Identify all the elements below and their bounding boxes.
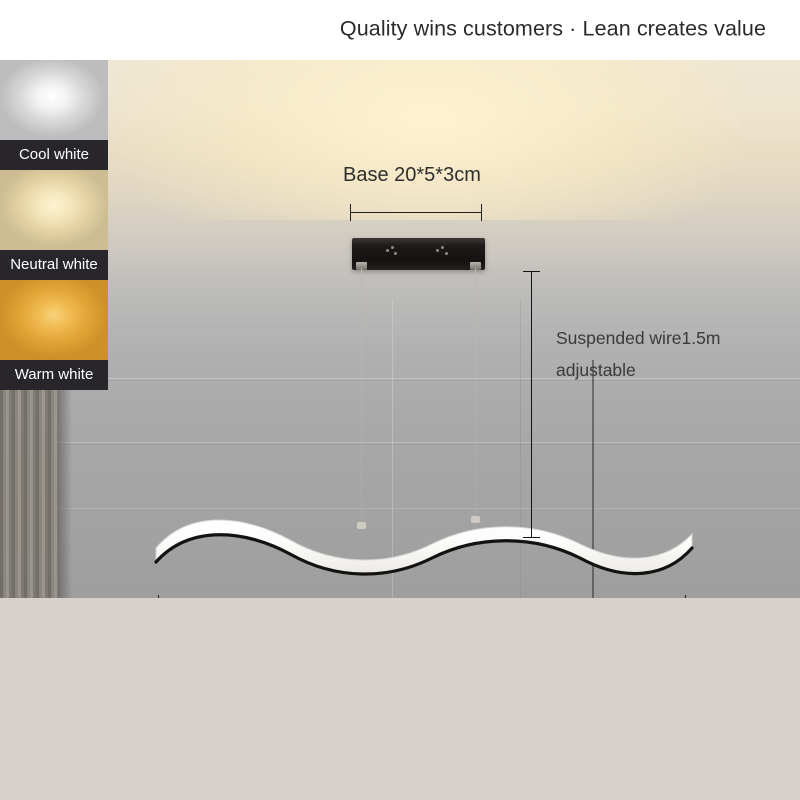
swatch-preview-cool-white bbox=[0, 60, 108, 140]
wall-seam bbox=[0, 378, 800, 379]
specification-panel: Black - 120cm Color: Black Material: Acr… bbox=[0, 598, 800, 800]
canopy-screw-icon bbox=[386, 249, 389, 252]
swatch-label-neutral-white: Neutral white bbox=[0, 250, 108, 280]
header-tagline: Quality wins customers · Lean creates va… bbox=[340, 17, 766, 42]
color-temperature-swatches: Cool white Neutral white Warm white bbox=[0, 60, 108, 390]
swatch-label-warm-white: Warm white bbox=[0, 360, 108, 390]
base-dimension-label: Base 20*5*3cm bbox=[343, 164, 481, 187]
curtain-shadow bbox=[58, 375, 72, 598]
lamp-canopy-base bbox=[352, 238, 485, 270]
suspension-wire bbox=[361, 268, 362, 526]
suspension-label-line1: Suspended wire1.5m bbox=[556, 328, 720, 349]
canopy-screw-icon bbox=[441, 246, 444, 249]
header-bar: Quality wins customers · Lean creates va… bbox=[0, 0, 800, 60]
suspension-wire bbox=[475, 268, 476, 520]
product-photo: Base 20*5*3cm Suspended wire1.5m adjusta… bbox=[0, 60, 800, 598]
suspension-dimension-line bbox=[531, 271, 532, 537]
swatch-preview-warm-white bbox=[0, 280, 108, 360]
canopy-screw-icon bbox=[394, 252, 397, 255]
suspension-label-line2: adjustable bbox=[556, 360, 636, 381]
ceiling-glow bbox=[120, 60, 740, 220]
dimension-tick bbox=[481, 204, 482, 221]
canopy-screw-icon bbox=[391, 246, 394, 249]
dimension-tick bbox=[350, 204, 351, 221]
base-dimension-line bbox=[350, 212, 481, 213]
swatch-preview-neutral-white bbox=[0, 170, 108, 250]
wall-seam bbox=[0, 380, 800, 381]
wall-seam bbox=[0, 444, 800, 445]
swatch-label-cool-white: Cool white bbox=[0, 140, 108, 170]
wall-seam bbox=[0, 442, 800, 443]
canopy-screw-icon bbox=[445, 252, 448, 255]
curtain bbox=[0, 375, 58, 598]
canopy-screw-icon bbox=[436, 249, 439, 252]
dimension-tick bbox=[523, 537, 540, 538]
lamp-body bbox=[150, 500, 698, 590]
dimension-tick bbox=[523, 271, 540, 272]
product-detail-page: Quality wins customers · Lean creates va… bbox=[0, 0, 800, 800]
